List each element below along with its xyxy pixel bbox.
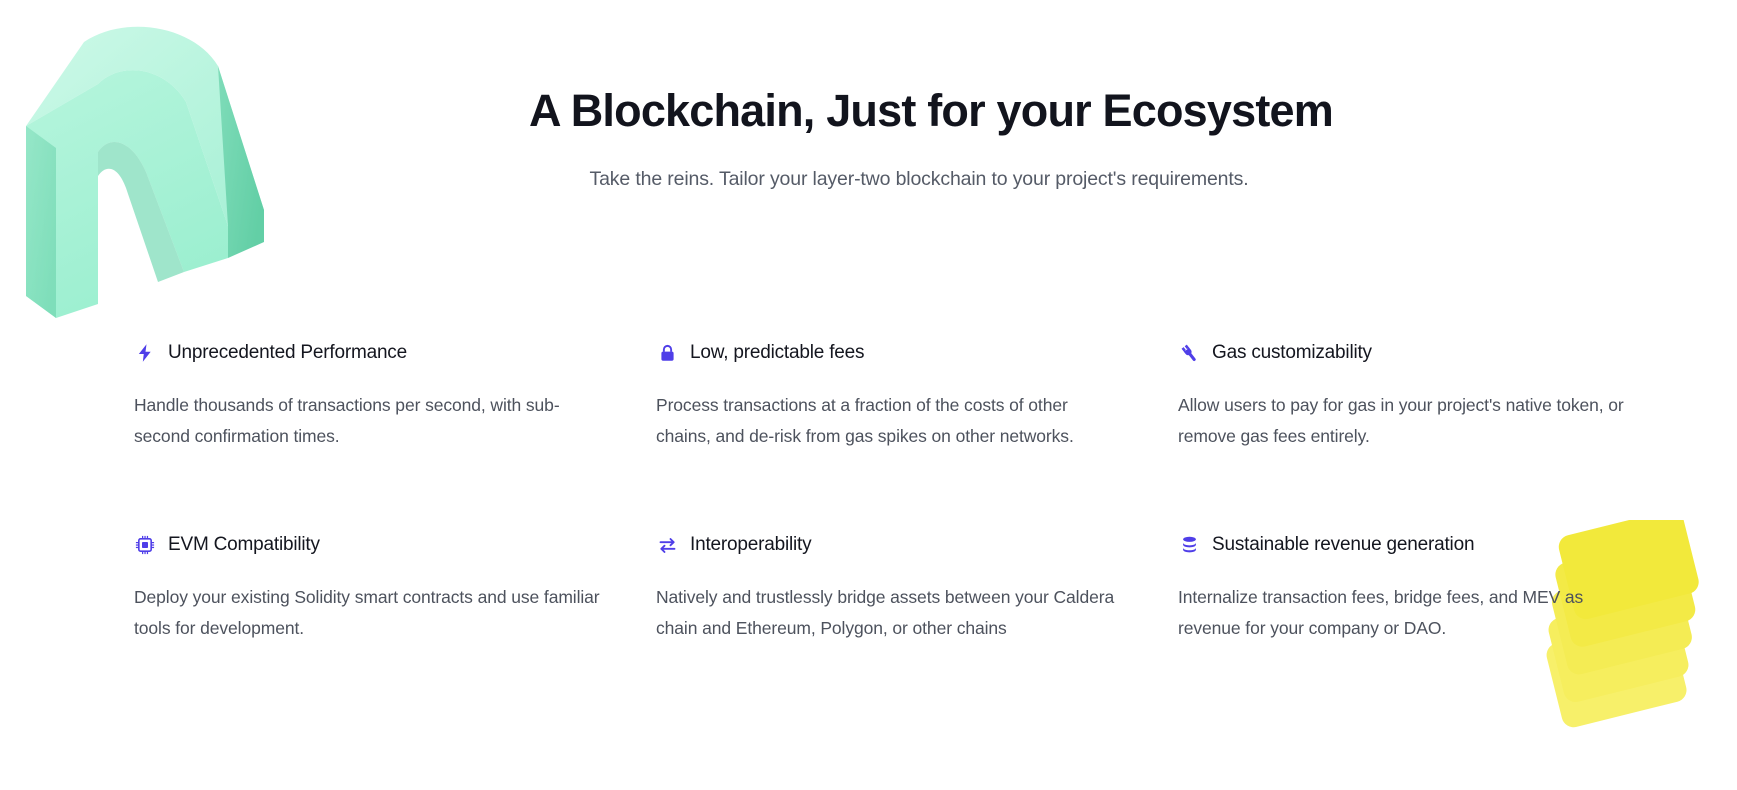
- swap-arrows-icon: [656, 534, 678, 556]
- page-subtitle: Take the reins. Tailor your layer-two bl…: [529, 165, 1309, 194]
- feature-title: EVM Compatibility: [168, 534, 320, 557]
- feature-description: Handle thousands of transactions per sec…: [134, 390, 604, 452]
- features-grid: Unprecedented Performance Handle thousan…: [134, 340, 1624, 645]
- feature-card-sustainable-revenue-generation: Sustainable revenue generation Internali…: [1178, 532, 1650, 644]
- feature-header: Gas customizability: [1178, 340, 1650, 366]
- feature-description: Allow users to pay for gas in your proje…: [1178, 390, 1648, 452]
- feature-card-unprecedented-performance: Unprecedented Performance Handle thousan…: [134, 340, 606, 452]
- feature-description: Internalize transaction fees, bridge fee…: [1178, 582, 1648, 644]
- feature-description: Deploy your existing Solidity smart cont…: [134, 582, 604, 644]
- hero-section: A Blockchain, Just for your Ecosystem Ta…: [529, 84, 1309, 194]
- wrench-icon: [1178, 342, 1200, 364]
- page-title: A Blockchain, Just for your Ecosystem: [529, 84, 1309, 137]
- feature-card-low-predictable-fees: Low, predictable fees Process transactio…: [656, 340, 1128, 452]
- lightning-bolt-icon: [134, 342, 156, 364]
- feature-title: Low, predictable fees: [690, 342, 864, 365]
- feature-title: Gas customizability: [1212, 342, 1372, 365]
- feature-title: Interoperability: [690, 534, 811, 557]
- feature-header: Sustainable revenue generation: [1178, 532, 1650, 558]
- feature-header: Low, predictable fees: [656, 340, 1128, 366]
- lock-icon: [656, 342, 678, 364]
- feature-header: Unprecedented Performance: [134, 340, 606, 366]
- arch-decoration-3d: [6, 20, 306, 320]
- feature-header: Interoperability: [656, 532, 1128, 558]
- feature-title: Sustainable revenue generation: [1212, 534, 1474, 557]
- feature-card-evm-compatibility: EVM Compatibility Deploy your existing S…: [134, 532, 606, 644]
- page-root: A Blockchain, Just for your Ecosystem Ta…: [0, 0, 1737, 790]
- database-stack-icon: [1178, 534, 1200, 556]
- feature-description: Natively and trustlessly bridge assets b…: [656, 582, 1126, 644]
- feature-card-gas-customizability: Gas customizability Allow users to pay f…: [1178, 340, 1650, 452]
- feature-card-interoperability: Interoperability Natively and trustlessl…: [656, 532, 1128, 644]
- cpu-chip-icon: [134, 534, 156, 556]
- feature-description: Process transactions at a fraction of th…: [656, 390, 1126, 452]
- feature-header: EVM Compatibility: [134, 532, 606, 558]
- feature-title: Unprecedented Performance: [168, 342, 407, 365]
